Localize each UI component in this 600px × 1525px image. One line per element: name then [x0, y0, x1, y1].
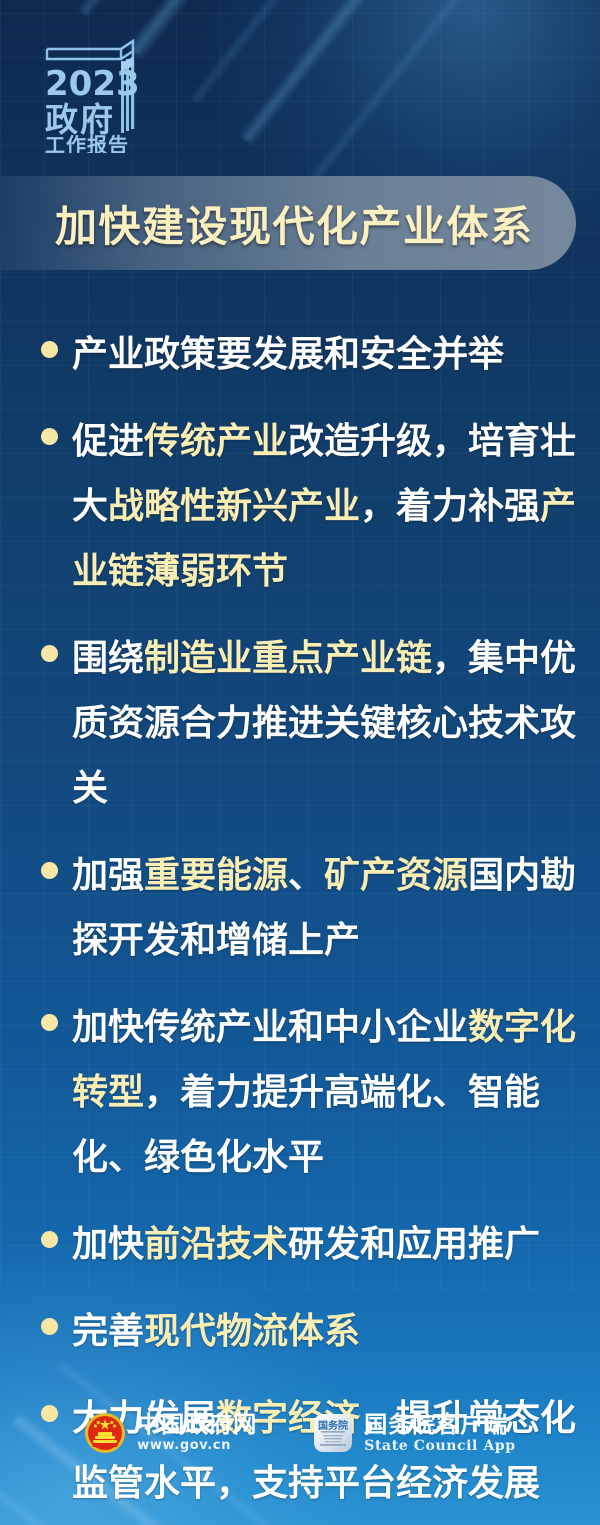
list-item-text: 加强重要能源、矿产资源国内勘探开发和增储上产 — [72, 843, 578, 973]
plain-phrase: 加快传统产业和中小企业 — [72, 1007, 468, 1048]
open-book-icon: 2023 政府 工作报告 — [33, 33, 153, 153]
plain-phrase: 促进 — [72, 421, 144, 462]
svg-text:2023: 2023 — [45, 64, 140, 104]
plain-phrase: 、 — [288, 855, 324, 896]
highlighted-phrase: 制造业重点产业链 — [144, 638, 432, 679]
list-item: 完善现代物流体系 — [0, 1299, 600, 1364]
highlighted-phrase: 重要能源 — [144, 855, 288, 896]
gov-cn-logo[interactable]: 中国政府网 www.gov.cn — [84, 1412, 257, 1454]
plain-phrase: ，着力补强 — [360, 486, 540, 527]
bullet-dot-icon — [41, 1014, 58, 1031]
list-item-text: 加快传统产业和中小企业数字化转型，着力提升高端化、智能化、绿色化水平 — [72, 995, 578, 1190]
list-item: 围绕制造业重点产业链，集中优质资源合力推进关键核心技术攻关 — [0, 626, 600, 821]
plain-phrase: 产业政策要发展和安全并举 — [72, 334, 504, 375]
highlighted-phrase: 矿产资源 — [324, 855, 468, 896]
bullet-dot-icon — [41, 1318, 58, 1335]
gov-cn-url: www.gov.cn — [137, 1438, 257, 1454]
highlighted-phrase: 传统产业 — [144, 421, 288, 462]
gov-cn-name: 中国政府网 — [137, 1412, 257, 1438]
list-item-text: 围绕制造业重点产业链，集中优质资源合力推进关键核心技术攻关 — [72, 626, 578, 821]
highlighted-phrase: 战略性新兴产业 — [108, 486, 360, 527]
policy-bullet-list: 产业政策要发展和安全并举促进传统产业改造升级，培育壮大战略性新兴产业，着力补强产… — [0, 322, 600, 1525]
bullet-dot-icon — [41, 341, 58, 358]
brand-line2: 工作报告 — [45, 133, 129, 153]
report-brand-logo: 2023 政府 工作报告 — [33, 33, 153, 153]
highlighted-phrase: 现代物流体系 — [144, 1311, 360, 1352]
svg-text:工作报告: 工作报告 — [45, 133, 129, 153]
brand-year: 2023 — [45, 64, 140, 104]
footer-logos: 中国政府网 www.gov.cn 国务院 — [0, 1403, 600, 1463]
app-icon-label: 国务院 — [318, 1419, 348, 1432]
plain-phrase: 研发和应用推广 — [288, 1224, 540, 1265]
poster-canvas: 2023 政府 工作报告 加快建设现代化产业体系 产业政策要发展和安全并举促进传… — [0, 0, 600, 1525]
list-item-text: 产业政策要发展和安全并举 — [72, 322, 578, 387]
bullet-dot-icon — [41, 1231, 58, 1248]
section-title-banner: 加快建设现代化产业体系 — [0, 176, 576, 270]
plain-phrase: 加快 — [72, 1224, 144, 1265]
list-item-text: 完善现代物流体系 — [72, 1299, 578, 1364]
list-item-text: 加快前沿技术研发和应用推广 — [72, 1212, 578, 1277]
plain-phrase: 围绕 — [72, 638, 144, 679]
bullet-dot-icon — [41, 428, 58, 445]
state-council-app-logo[interactable]: 国务院 国务院客户端 State Council App — [313, 1412, 515, 1454]
state-council-app-subtitle: State Council App — [364, 1438, 515, 1454]
list-item: 加强重要能源、矿产资源国内勘探开发和增储上产 — [0, 843, 600, 973]
plain-phrase: 完善 — [72, 1311, 144, 1352]
bullet-dot-icon — [41, 645, 58, 662]
page-title: 加快建设现代化产业体系 — [55, 193, 534, 254]
bullet-dot-icon — [41, 862, 58, 879]
list-item: 加快前沿技术研发和应用推广 — [0, 1212, 600, 1277]
state-council-app-icon: 国务院 — [313, 1413, 353, 1453]
plain-phrase: 加强 — [72, 855, 144, 896]
list-item: 产业政策要发展和安全并举 — [0, 322, 600, 387]
highlighted-phrase: 前沿技术 — [144, 1224, 288, 1265]
national-emblem-icon — [84, 1412, 126, 1454]
list-item: 促进传统产业改造升级，培育壮大战略性新兴产业，着力补强产业链薄弱环节 — [0, 409, 600, 604]
list-item: 加快传统产业和中小企业数字化转型，着力提升高端化、智能化、绿色化水平 — [0, 995, 600, 1190]
state-council-app-name: 国务院客户端 — [364, 1412, 515, 1438]
list-item-text: 促进传统产业改造升级，培育壮大战略性新兴产业，着力补强产业链薄弱环节 — [72, 409, 578, 604]
